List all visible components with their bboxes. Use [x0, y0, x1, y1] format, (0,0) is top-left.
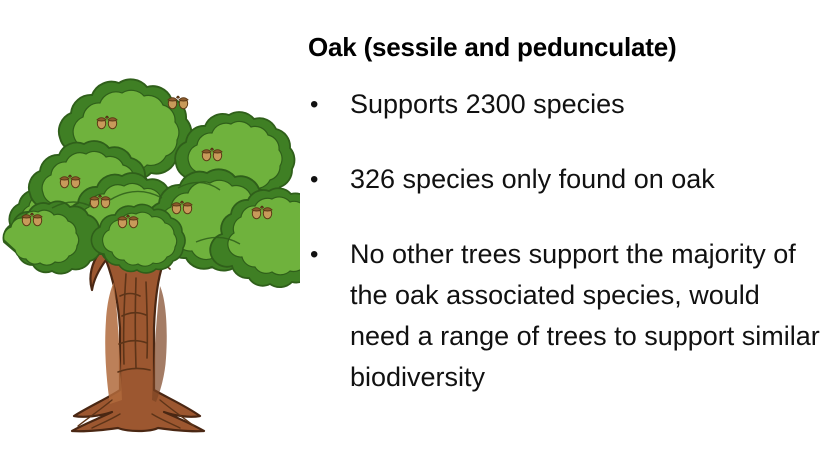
bullet-text: Supports 2300 species — [350, 84, 829, 125]
tree-canopy — [3, 79, 300, 287]
bullet-marker-icon: • — [310, 159, 324, 200]
slide-text-column: Oak (sessile and pedunculate) • Supports… — [305, 22, 829, 462]
oak-tree-illustration — [0, 28, 300, 458]
bullet-text: No other trees support the majority of t… — [350, 234, 820, 398]
bullet-marker-icon: • — [310, 84, 324, 125]
bullet-item-no-other-trees: • No other trees support the majority of… — [305, 234, 829, 398]
bullet-text: 326 species only found on oak — [350, 159, 829, 200]
slide-canvas: Oak (sessile and pedunculate) • Supports… — [0, 0, 836, 468]
oak-tree-svg — [0, 28, 300, 458]
bullet-list: • Supports 2300 species • 326 species on… — [305, 84, 829, 398]
bullet-item-only-found-on-oak: • 326 species only found on oak — [305, 159, 829, 200]
slide-title: Oak (sessile and pedunculate) — [308, 32, 829, 62]
bullet-item-supports-species: • Supports 2300 species — [305, 84, 829, 125]
bullet-marker-icon: • — [310, 234, 324, 275]
